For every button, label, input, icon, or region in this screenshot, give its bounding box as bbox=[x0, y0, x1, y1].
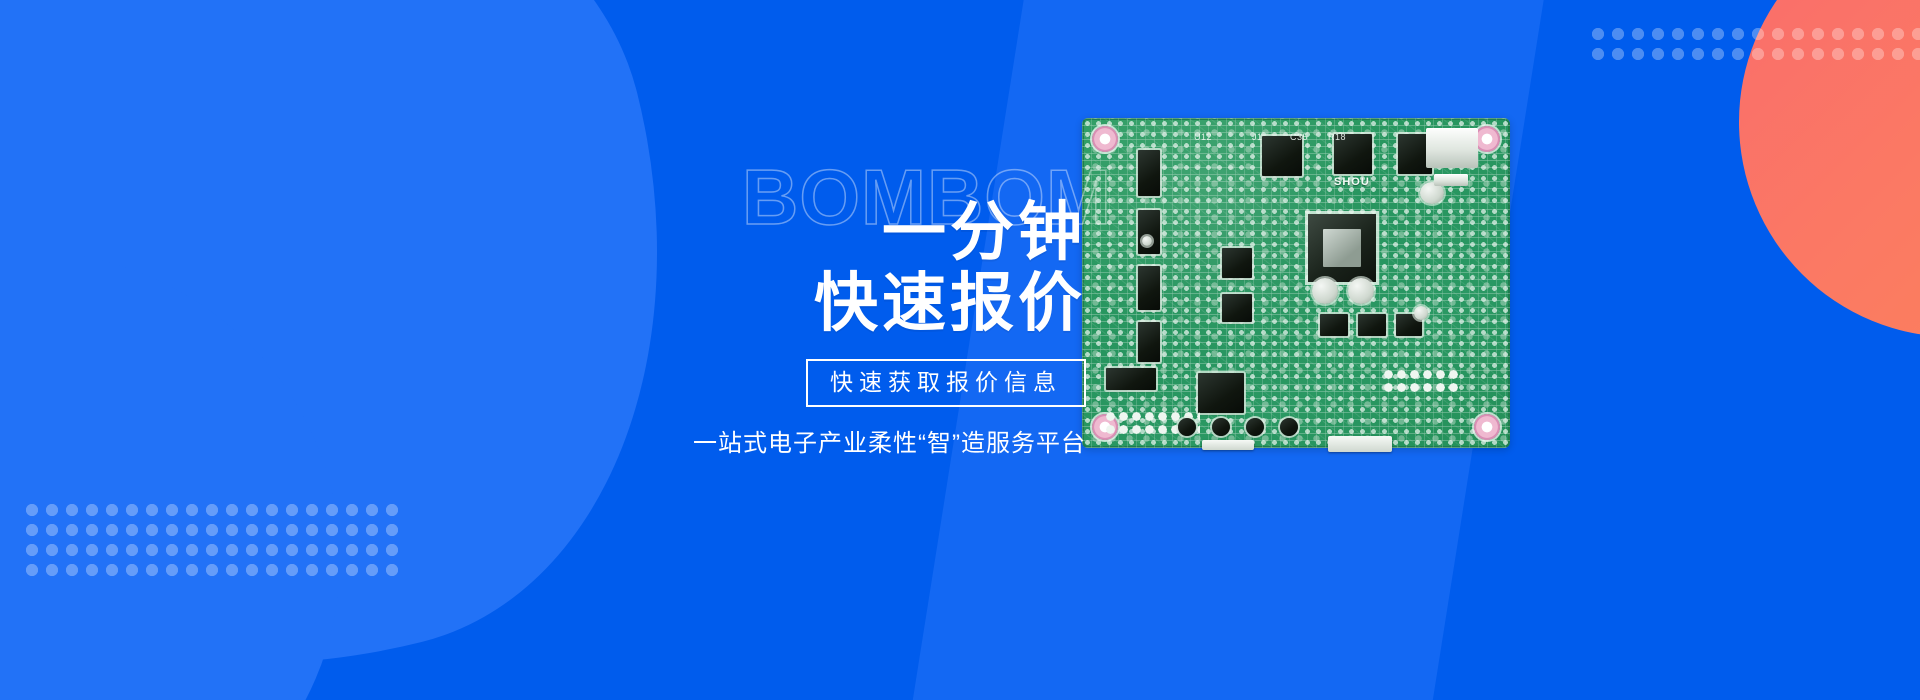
pcb-chip bbox=[1106, 368, 1156, 390]
page-title: 一分钟 快速报价 bbox=[606, 150, 1086, 337]
headline-line-1: 一分钟 bbox=[606, 200, 1086, 265]
pcb-chip bbox=[1320, 314, 1348, 336]
pcb-button bbox=[1178, 418, 1196, 436]
pcb-button bbox=[1280, 418, 1298, 436]
banner-subtitle: 一站式电子产业柔性“智”造服务平台 bbox=[606, 423, 1086, 458]
pcb-processor bbox=[1308, 214, 1376, 282]
banner-copy-block: BOMBOM 一分钟 快速报价 快速获取报价信息 一站式电子产业柔性“智”造服务… bbox=[606, 150, 1086, 458]
pcb-chip bbox=[1222, 248, 1252, 278]
pcb-button bbox=[1246, 418, 1264, 436]
pcb-chip bbox=[1358, 314, 1386, 336]
pcb-edge-connector bbox=[1328, 436, 1392, 452]
pcb-chip bbox=[1138, 210, 1160, 254]
headline-line-2: 快速报价 bbox=[606, 271, 1086, 336]
pcb-chip bbox=[1262, 136, 1302, 176]
pcb-chip bbox=[1138, 150, 1160, 196]
pcb-silkscreen-badge: SHOU bbox=[1334, 176, 1370, 188]
pcb-silkscreen-label: U12 bbox=[1194, 132, 1212, 142]
pcb-capacitor bbox=[1142, 236, 1152, 246]
pcb-inductor bbox=[1312, 278, 1338, 304]
pcb-chip bbox=[1138, 322, 1160, 362]
pcb-card-slot bbox=[1426, 128, 1478, 168]
pcb-chip bbox=[1222, 294, 1252, 322]
pcb-chip bbox=[1138, 266, 1160, 310]
get-quote-button[interactable]: 快速获取报价信息 bbox=[806, 359, 1086, 408]
pcb-mount-hole bbox=[1474, 414, 1500, 440]
pcb-silkscreen-label: C35 bbox=[1290, 132, 1308, 142]
printed-circuit-board-photo: SHOU U12 J1 C35 R18 bbox=[1082, 118, 1510, 448]
pcb-card-slot bbox=[1434, 174, 1468, 186]
pcb-inductor bbox=[1348, 278, 1374, 304]
pcb-edge-connector bbox=[1202, 440, 1254, 450]
pcb-chip bbox=[1198, 373, 1244, 413]
dot-grid-bottom-left-icon bbox=[22, 500, 402, 580]
pcb-button bbox=[1212, 418, 1230, 436]
pcb-silkscreen-label: R18 bbox=[1328, 132, 1346, 142]
pcb-mount-hole bbox=[1092, 126, 1118, 152]
pcb-pad-array bbox=[1382, 368, 1460, 394]
dot-grid-top-right-icon bbox=[1588, 24, 1920, 64]
pcb-silkscreen-label: J1 bbox=[1252, 132, 1263, 142]
pcb-capacitor bbox=[1414, 306, 1428, 320]
promo-banner: SHOU U12 J1 C35 R18 BOMBOM 一分钟 快速报价 快速获取… bbox=[0, 0, 1920, 700]
